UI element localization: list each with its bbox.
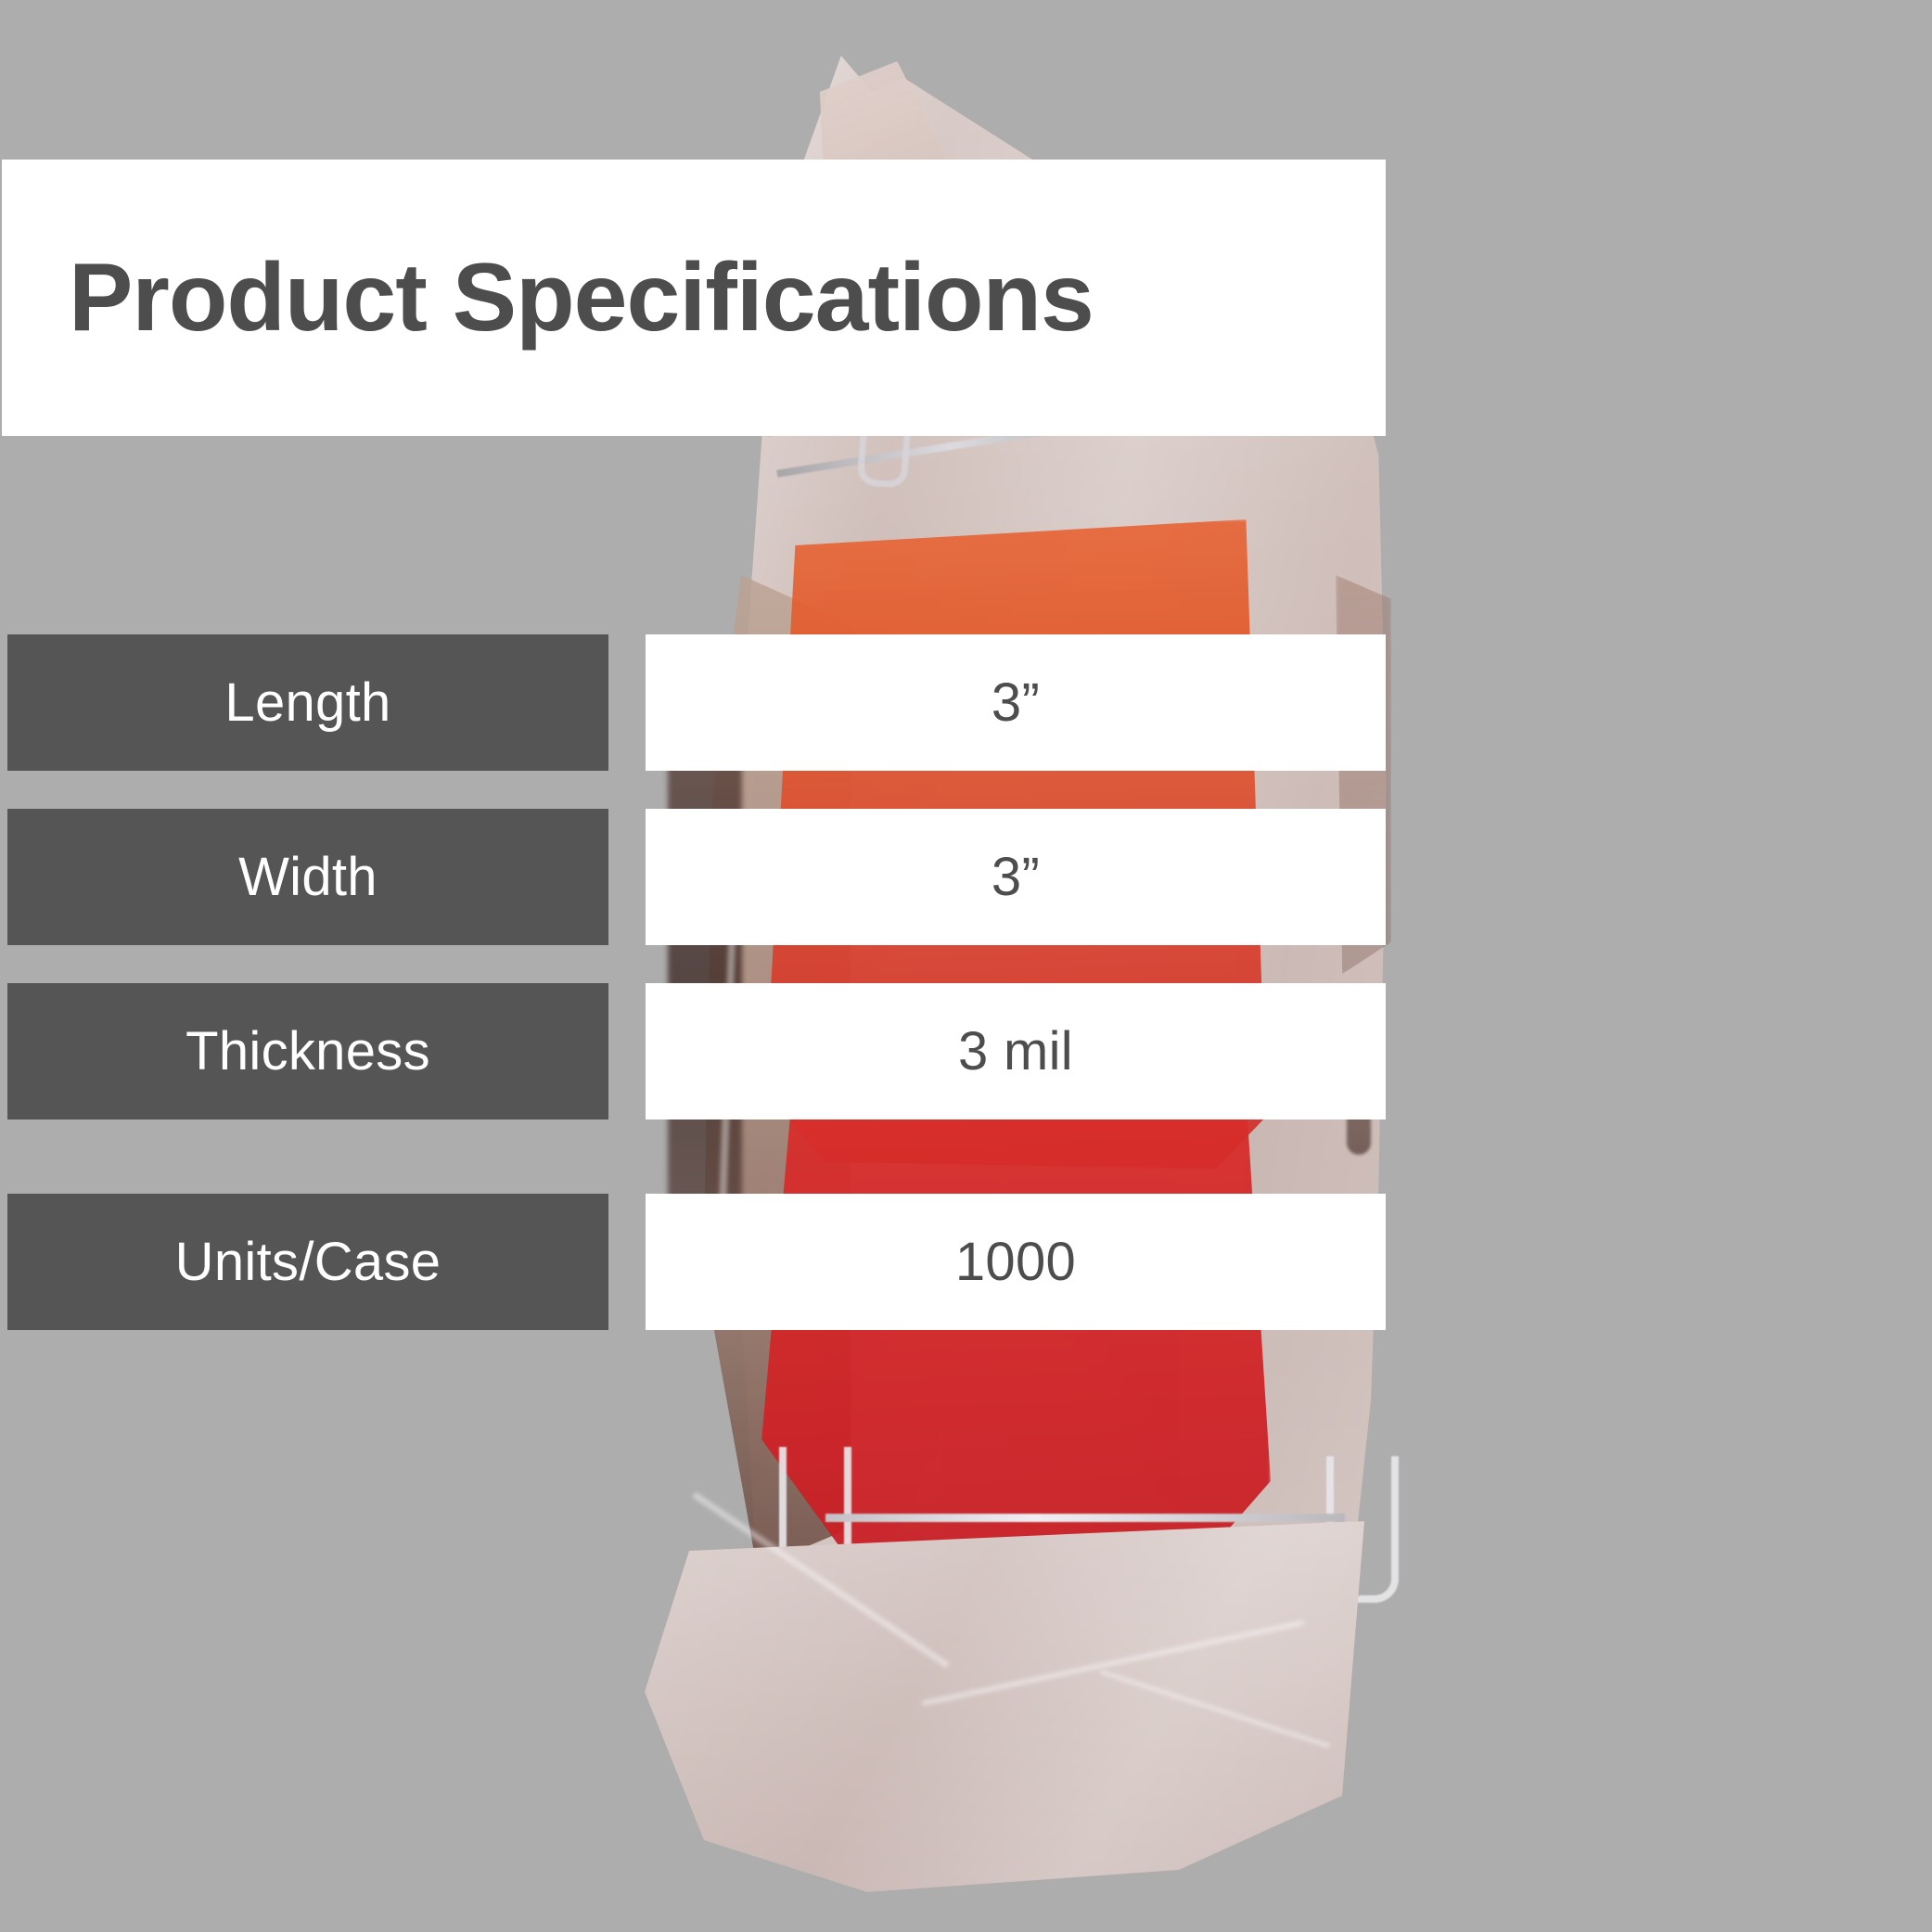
spec-label-units-case: Units/Case	[7, 1194, 608, 1330]
hanger-bar-lower	[825, 1514, 1345, 1522]
product-specification-graphic: Product Specifications Length 3” Width 3…	[0, 0, 1932, 1932]
spec-row-length: Length 3”	[0, 634, 1932, 771]
spec-row-thickness: Thickness 3 mil	[0, 983, 1932, 1120]
spec-row-units-case: Units/Case 1000	[0, 1194, 1932, 1330]
spec-label-width: Width	[7, 809, 608, 945]
spec-value-thickness: 3 mil	[646, 983, 1386, 1120]
spec-row-width: Width 3”	[0, 809, 1932, 945]
page-title: Product Specifications	[69, 249, 1094, 346]
title-panel: Product Specifications	[2, 160, 1386, 436]
spec-label-length: Length	[7, 634, 608, 771]
plastic-bag-bottom	[645, 1521, 1387, 1892]
spec-label-thickness: Thickness	[7, 983, 608, 1120]
spec-value-width: 3”	[646, 809, 1386, 945]
spec-value-length: 3”	[646, 634, 1386, 771]
spec-value-units-case: 1000	[646, 1194, 1386, 1330]
